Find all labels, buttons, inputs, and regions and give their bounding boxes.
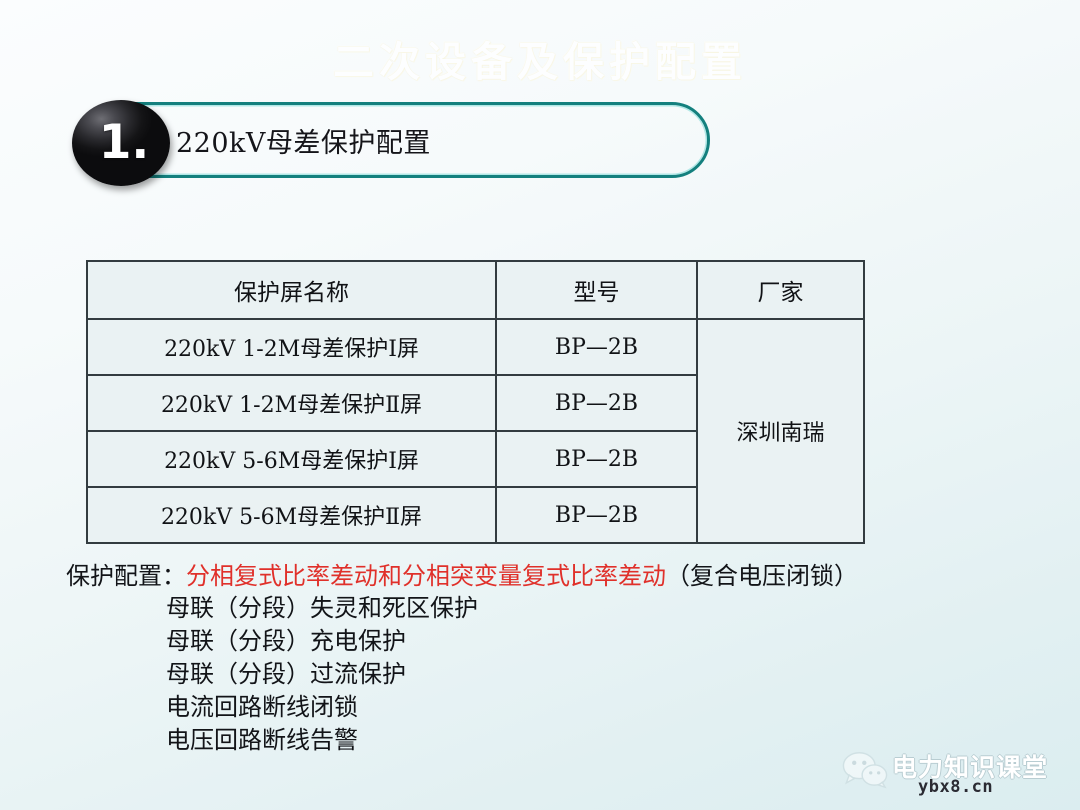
cell-model: BP—2B <box>496 431 697 487</box>
wechat-icon <box>842 750 888 790</box>
watermark: 电力知识课堂 ybx8.cn <box>842 748 1074 804</box>
note-line: 母联（分段）过流保护 <box>166 658 1066 691</box>
column-header-panel-name: 保护屏名称 <box>87 261 496 319</box>
column-header-model: 型号 <box>496 261 697 319</box>
cell-model: BP—2B <box>496 487 697 543</box>
protection-config-suffix: （复合电压闭锁） <box>666 562 858 590</box>
cell-panel-name: 220kV 1-2M母差保护Ⅱ屏 <box>87 375 496 431</box>
cell-model: BP—2B <box>496 375 697 431</box>
cell-manufacturer: 深圳南瑞 <box>697 319 864 543</box>
protection-config-accent: 分相复式比率差动和分相突变量复式比率差动 <box>186 562 666 590</box>
section-banner: 220kV母差保护配置 1. <box>72 100 712 182</box>
banner-number-text: 1. <box>93 119 150 168</box>
cell-panel-name: 220kV 5-6M母差保护Ⅱ屏 <box>87 487 496 543</box>
note-line: 电流回路断线闭锁 <box>166 691 1066 724</box>
notes-block: 保护配置：分相复式比率差动和分相突变量复式比率差动（复合电压闭锁） 母联（分段）… <box>66 560 1066 757</box>
column-header-manufacturer: 厂家 <box>697 261 864 319</box>
protection-config-line: 保护配置：分相复式比率差动和分相突变量复式比率差动（复合电压闭锁） <box>66 560 1066 592</box>
cell-panel-name: 220kV 5-6M母差保护Ⅰ屏 <box>87 431 496 487</box>
cell-panel-name: 220kV 1-2M母差保护Ⅰ屏 <box>87 319 496 375</box>
table-row: 220kV 1-2M母差保护Ⅰ屏 BP—2B 深圳南瑞 <box>87 319 864 375</box>
table-header-row: 保护屏名称 型号 厂家 <box>87 261 864 319</box>
banner-number-badge: 1. <box>72 100 170 186</box>
protection-panel-table: 保护屏名称 型号 厂家 220kV 1-2M母差保护Ⅰ屏 BP—2B 深圳南瑞 … <box>86 260 865 544</box>
note-line: 母联（分段）充电保护 <box>166 625 1066 658</box>
slide-title: 二次设备及保护配置 <box>0 28 1080 88</box>
banner-label: 220kV母差保护配置 <box>176 100 431 180</box>
note-line: 母联（分段）失灵和死区保护 <box>166 592 1066 625</box>
protection-config-prefix: 保护配置： <box>66 562 186 590</box>
cell-model: BP—2B <box>496 319 697 375</box>
watermark-url: ybx8.cn <box>918 777 993 797</box>
